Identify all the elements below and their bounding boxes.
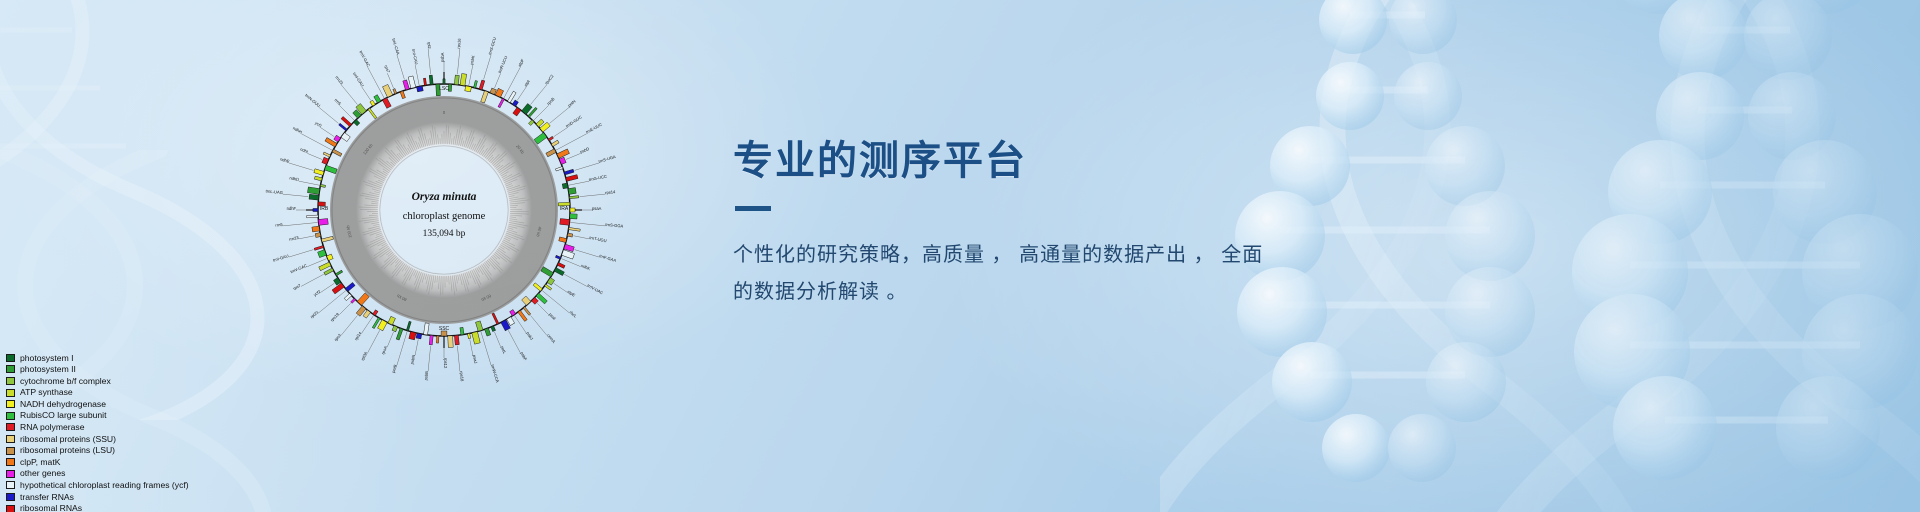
gene-label: ndhK <box>580 263 591 271</box>
legend-item-label: ribosomal proteins (LSU) <box>20 446 115 455</box>
gene-feature <box>481 91 489 103</box>
gene-label: trnS-UGA <box>598 154 617 164</box>
legend-color-swatch <box>6 377 15 385</box>
legend-item: RubisCO large subunit <box>6 410 189 422</box>
gene-feature <box>429 335 433 345</box>
gene-feature <box>557 262 565 268</box>
legend-color-swatch <box>6 400 15 408</box>
gene-label: trnW-CCA <box>490 364 500 383</box>
gene-label: rpl2 <box>426 42 432 50</box>
gene-feature <box>341 133 350 142</box>
gene-feature <box>312 226 320 232</box>
gene-feature <box>374 95 381 103</box>
gene-feature <box>448 336 453 348</box>
gene-feature <box>314 169 324 176</box>
gene-feature <box>319 262 331 271</box>
gene-label: trnF-GAA <box>599 253 617 263</box>
gene-label: trnR-UCU <box>497 55 509 74</box>
gene-feature <box>400 91 405 99</box>
legend-color-swatch <box>6 481 15 489</box>
gene-label: rps7 <box>383 64 391 74</box>
genome-region-label: IRB <box>320 206 329 212</box>
gene-feature <box>443 79 445 84</box>
gene-label: psaJ <box>472 354 479 363</box>
gene-feature <box>545 284 552 290</box>
gene-label: ndhD <box>289 175 300 182</box>
gene-feature <box>307 215 319 218</box>
gene-feature <box>332 283 344 294</box>
gene-label: rrn23 <box>289 235 300 242</box>
legend-item-label: NADH dehydrogenase <box>20 400 106 409</box>
legend-item-label: RNA polymerase <box>20 423 84 432</box>
headline-divider <box>735 206 771 211</box>
gene-feature <box>522 296 531 305</box>
gene-feature <box>408 76 416 88</box>
gene-feature <box>309 194 319 200</box>
legend-item-label: ribosomal proteins (SSU) <box>20 435 116 444</box>
gene-feature <box>314 246 324 251</box>
gene-label: petL <box>500 345 508 355</box>
gene-label: trnN-GUU <box>304 93 321 108</box>
legend-item: other genes <box>6 468 189 480</box>
gene-label: petB <box>391 364 398 374</box>
gene-label: rpoC2 <box>544 73 555 85</box>
gene-feature <box>393 89 397 94</box>
gene-feature <box>344 293 351 300</box>
legend-item-label: hypothetical chloroplast reading frames … <box>20 481 189 490</box>
gene-label: rrn5 <box>333 97 342 106</box>
legend-color-swatch <box>6 389 15 397</box>
gene-label: atpF <box>517 58 526 68</box>
gene-feature <box>559 237 567 243</box>
gene-feature <box>474 81 478 89</box>
legend-color-swatch <box>6 365 15 373</box>
gene-label: atpE <box>567 289 577 298</box>
gene-label: psbB <box>423 371 429 381</box>
gene-feature <box>409 332 416 340</box>
gene-label: rbcL <box>569 310 579 319</box>
banner: psbArps16psbKtrnS-GCUtrnR-UCUatpFatpIrpo… <box>0 0 1920 512</box>
gene-label: rps16 <box>456 37 462 48</box>
genome-region-label: LSC <box>439 86 449 92</box>
legend-color-swatch <box>6 435 15 443</box>
legend-item: cytochrome b/f complex <box>6 375 189 387</box>
gene-label: rpl36 <box>360 350 369 361</box>
gene-label: atpI <box>523 79 531 87</box>
gene-label: ndhE <box>280 156 291 164</box>
gene-label: rps19 <box>329 311 340 322</box>
gene-feature <box>345 282 355 291</box>
gene-feature <box>315 233 321 238</box>
gene-feature <box>492 313 499 324</box>
gene-label: trnD-GUC <box>565 114 583 128</box>
legend-item-label: clpP, matK <box>20 458 60 467</box>
legend-item: ATP synthase <box>6 387 189 399</box>
gene-feature <box>454 335 459 345</box>
gene-label: rpoA <box>380 345 388 355</box>
legend-item: clpP, matK <box>6 456 189 468</box>
gene-label: ycf1 <box>314 120 324 129</box>
gene-feature <box>332 149 342 156</box>
gene-feature <box>335 270 342 276</box>
gene-label: ycf2 <box>312 288 322 297</box>
banner-headline: 专业的测序平台 <box>733 138 1433 184</box>
gene-label: ndhI <box>300 147 309 155</box>
gene-feature <box>468 333 471 338</box>
gene-feature <box>498 98 504 107</box>
gene-feature <box>382 98 391 109</box>
gene-label: psbF <box>519 351 528 362</box>
gene-feature <box>403 80 410 90</box>
legend-color-swatch <box>6 447 15 455</box>
gene-feature <box>554 268 564 276</box>
gene-label: rps7 <box>292 283 302 292</box>
legend-item: hypothetical chloroplast reading frames … <box>6 480 189 492</box>
genome-length: 135,094 bp <box>423 229 466 239</box>
gene-label: trnV-UAC <box>586 283 604 296</box>
gene-label: rps14 <box>605 189 616 195</box>
gene-label: trnL-CAA <box>391 38 401 56</box>
gene-feature <box>557 149 570 158</box>
legend-color-swatch <box>6 423 15 431</box>
gene-feature <box>534 133 547 145</box>
gene-label: trnV-GAC <box>290 263 308 274</box>
legend-color-swatch <box>6 470 15 478</box>
gene-feature <box>307 187 319 194</box>
gene-feature <box>472 332 480 345</box>
genome-legend: photosystem Iphotosystem IIcytochrome b/… <box>6 352 189 512</box>
legend-item-label: transfer RNAs <box>20 493 74 502</box>
banner-copy: 专业的测序平台 个性化的研究策略，高质量 ， 高通量的数据产出 ， 全面的数据分… <box>733 138 1433 311</box>
gene-label: rrn5 <box>275 222 283 228</box>
gene-feature <box>570 214 577 219</box>
gene-feature <box>536 293 547 304</box>
legend-item-label: cytochrome b/f complex <box>20 377 111 386</box>
gene-label: trnS-GCU <box>487 37 497 56</box>
legend-item: RNA polymerase <box>6 422 189 434</box>
banner-subcopy: 个性化的研究策略，高质量 ， 高通量的数据产出 ， 全面的数据分析解读 。 <box>733 237 1278 311</box>
legend-item-label: ATP synthase <box>20 388 73 397</box>
gene-label: psaI <box>548 312 557 321</box>
genome-subtitle: chloroplast genome <box>403 211 486 222</box>
genome-region-label: SSC <box>439 326 450 332</box>
legend-item-label: photosystem I <box>20 354 74 363</box>
gene-label: psaA <box>592 206 602 211</box>
gene-label: ndhH <box>292 125 303 134</box>
gene-feature <box>465 86 472 92</box>
legend-color-swatch <box>6 493 15 501</box>
gene-feature <box>551 140 559 146</box>
gene-feature <box>562 183 568 189</box>
legend-item: transfer RNAs <box>6 491 189 503</box>
gene-feature <box>569 196 579 199</box>
gene-feature <box>460 327 464 335</box>
gene-feature <box>560 219 570 226</box>
gene-feature <box>320 184 325 187</box>
legend-item: ribosomal proteins (SSU) <box>6 433 189 445</box>
gene-feature <box>491 326 496 332</box>
legend-item: NADH dehydrogenase <box>6 398 189 410</box>
gene-label: trnI-CAU <box>411 48 419 65</box>
legend-item: ribosomal proteins (LSU) <box>6 445 189 457</box>
gene-label: rps3 <box>333 332 342 342</box>
legend-color-swatch <box>6 412 15 420</box>
gene-feature <box>523 307 531 316</box>
gene-feature <box>518 310 527 321</box>
gene-feature <box>548 136 553 141</box>
legend-item: photosystem II <box>6 364 189 376</box>
gene-feature <box>436 336 439 343</box>
gene-feature <box>567 233 573 237</box>
gene-feature <box>533 283 542 291</box>
gene-feature <box>351 298 356 303</box>
gene-label: trnT-UGU <box>589 235 607 243</box>
gene-label: psbA <box>440 52 445 62</box>
gene-feature <box>341 116 352 126</box>
legend-item-label: photosystem II <box>20 365 76 374</box>
gene-label: psbK <box>469 55 476 65</box>
genome-region-label: IRA <box>560 206 569 212</box>
gene-feature <box>429 75 433 85</box>
gene-feature <box>555 167 563 171</box>
gene-feature <box>383 84 393 97</box>
legend-item: photosystem I <box>6 352 189 364</box>
gene-feature <box>555 255 560 259</box>
gene-label: rpl23 <box>309 309 320 319</box>
gene-feature <box>339 123 348 131</box>
gene-feature <box>325 165 338 174</box>
gene-label: rps12 <box>443 358 448 369</box>
gene-label: rpoB <box>546 96 556 106</box>
gene-label: psbN <box>409 354 416 364</box>
legend-color-swatch <box>6 354 15 362</box>
gene-feature <box>570 208 575 212</box>
gene-label: psbJ <box>525 331 534 341</box>
gene-feature <box>423 78 426 85</box>
gene-feature <box>531 297 538 304</box>
gene-feature <box>416 333 422 339</box>
gene-feature <box>546 149 556 157</box>
gene-feature <box>479 80 485 90</box>
gene-feature <box>406 321 411 331</box>
legend-item-label: RubisCO large subunit <box>20 411 106 420</box>
gene-label: cemA <box>546 333 557 344</box>
gene-feature <box>314 176 322 181</box>
gene-label: trnI-GAU <box>352 71 365 87</box>
gene-feature <box>564 169 574 175</box>
gene-feature <box>318 250 327 258</box>
gene-feature <box>541 267 553 277</box>
gene-feature <box>547 278 554 286</box>
legend-color-swatch <box>6 505 15 512</box>
gene-feature <box>334 135 341 142</box>
gene-feature <box>568 188 576 195</box>
gene-label: trnV-GAC <box>358 50 371 68</box>
gene-feature <box>566 175 578 182</box>
gene-label: trnI-GAU <box>272 253 289 262</box>
gene-label: rpl14 <box>353 330 363 341</box>
gene-feature <box>476 321 483 331</box>
gene-feature <box>454 75 459 85</box>
gene-feature <box>424 323 430 335</box>
gene-feature <box>313 208 318 211</box>
gene-feature <box>368 108 377 119</box>
gene-label: psbD <box>579 146 590 154</box>
gene-feature <box>417 86 424 92</box>
legend-color-swatch <box>6 458 15 466</box>
gene-label: petN <box>567 99 577 108</box>
legend-item: ribosomal RNAs <box>6 503 189 512</box>
chloroplast-genome-map: psbArps16psbKtrnS-GCUtrnR-UCUatpFatpIrpo… <box>238 4 650 416</box>
legend-item-label: ribosomal RNAs <box>20 504 82 512</box>
gene-feature <box>396 328 403 340</box>
gene-label: trnE-UUC <box>585 122 603 135</box>
gene-label: rps18 <box>459 371 465 382</box>
gene-label: trnG-UCC <box>588 174 607 182</box>
gene-feature <box>460 74 467 86</box>
gene-feature <box>323 152 330 157</box>
gene-label: ndhF <box>287 206 297 211</box>
gene-feature <box>321 236 333 242</box>
gene-feature <box>485 328 491 336</box>
gene-feature <box>324 268 334 275</box>
gene-label: trnL-UAG <box>265 188 283 195</box>
gene-label: trnS-GGA <box>605 222 624 229</box>
genome-organism-name: Oryza minuta <box>412 191 477 203</box>
gene-label: rrn23 <box>334 75 344 86</box>
gene-feature <box>318 219 328 226</box>
legend-item-label: other genes <box>20 469 65 478</box>
genome-map-svg: psbArps16psbKtrnS-GCUtrnR-UCUatpFatpIrpo… <box>238 4 650 416</box>
gene-feature <box>568 227 580 231</box>
